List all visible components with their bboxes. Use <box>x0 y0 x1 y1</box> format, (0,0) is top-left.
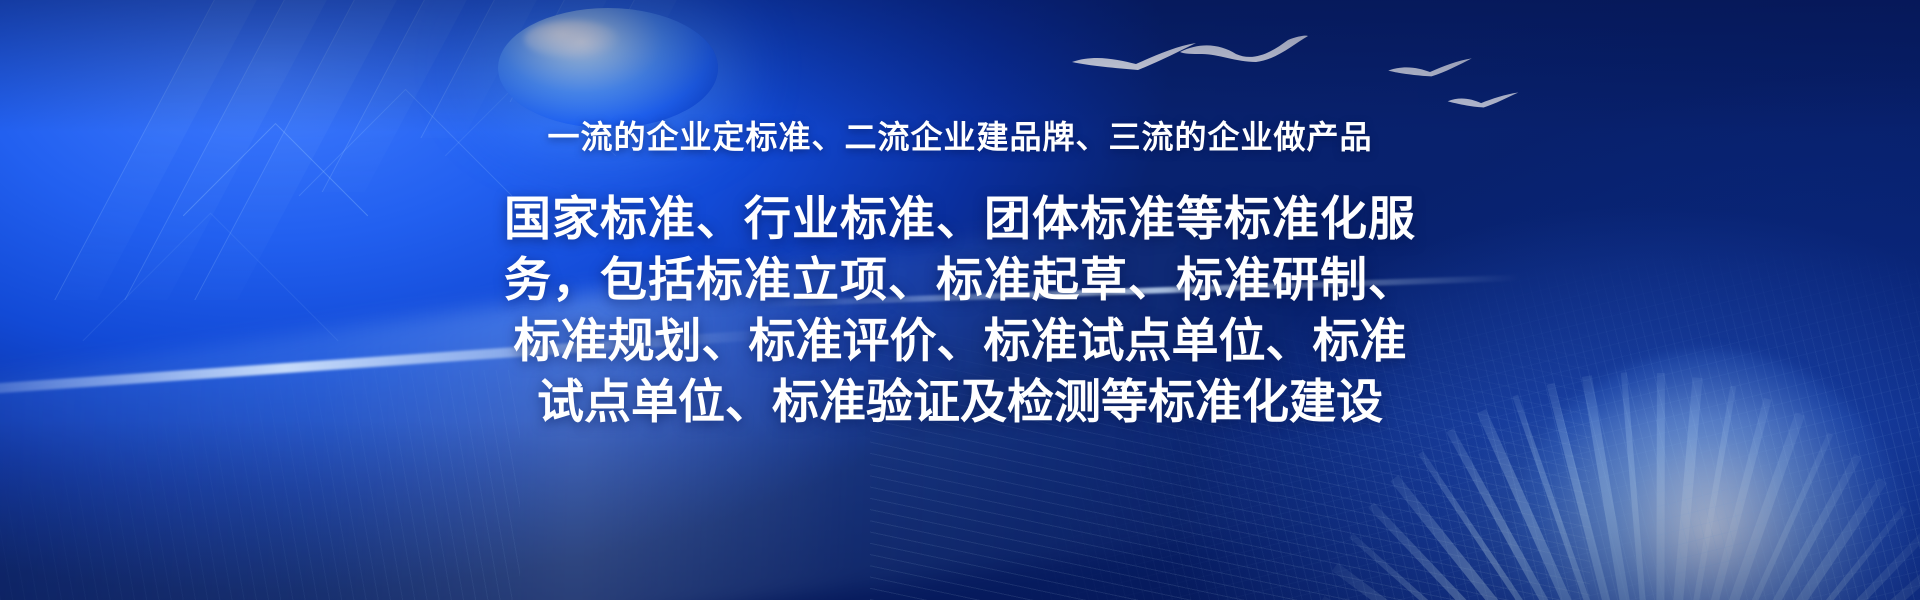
banner-body-line-1: 国家标准、行业标准、团体标准等标准化服 <box>440 188 1480 249</box>
banner-content: 一流的企业定标准、二流企业建品牌、三流的企业做产品 国家标准、行业标准、团体标准… <box>0 0 1920 600</box>
banner-body: 国家标准、行业标准、团体标准等标准化服 务，包括标准立项、标准起草、标准研制、 … <box>440 188 1480 432</box>
banner-body-line-3: 标准规划、标准评价、标准试点单位、标准 <box>440 310 1480 371</box>
banner-body-line-4: 试点单位、标准验证及检测等标准化建设 <box>440 371 1480 432</box>
banner-headline: 一流的企业定标准、二流企业建品牌、三流的企业做产品 <box>547 112 1372 158</box>
promo-banner: 一流的企业定标准、二流企业建品牌、三流的企业做产品 国家标准、行业标准、团体标准… <box>0 0 1920 600</box>
banner-body-line-2: 务，包括标准立项、标准起草、标准研制、 <box>440 249 1480 310</box>
